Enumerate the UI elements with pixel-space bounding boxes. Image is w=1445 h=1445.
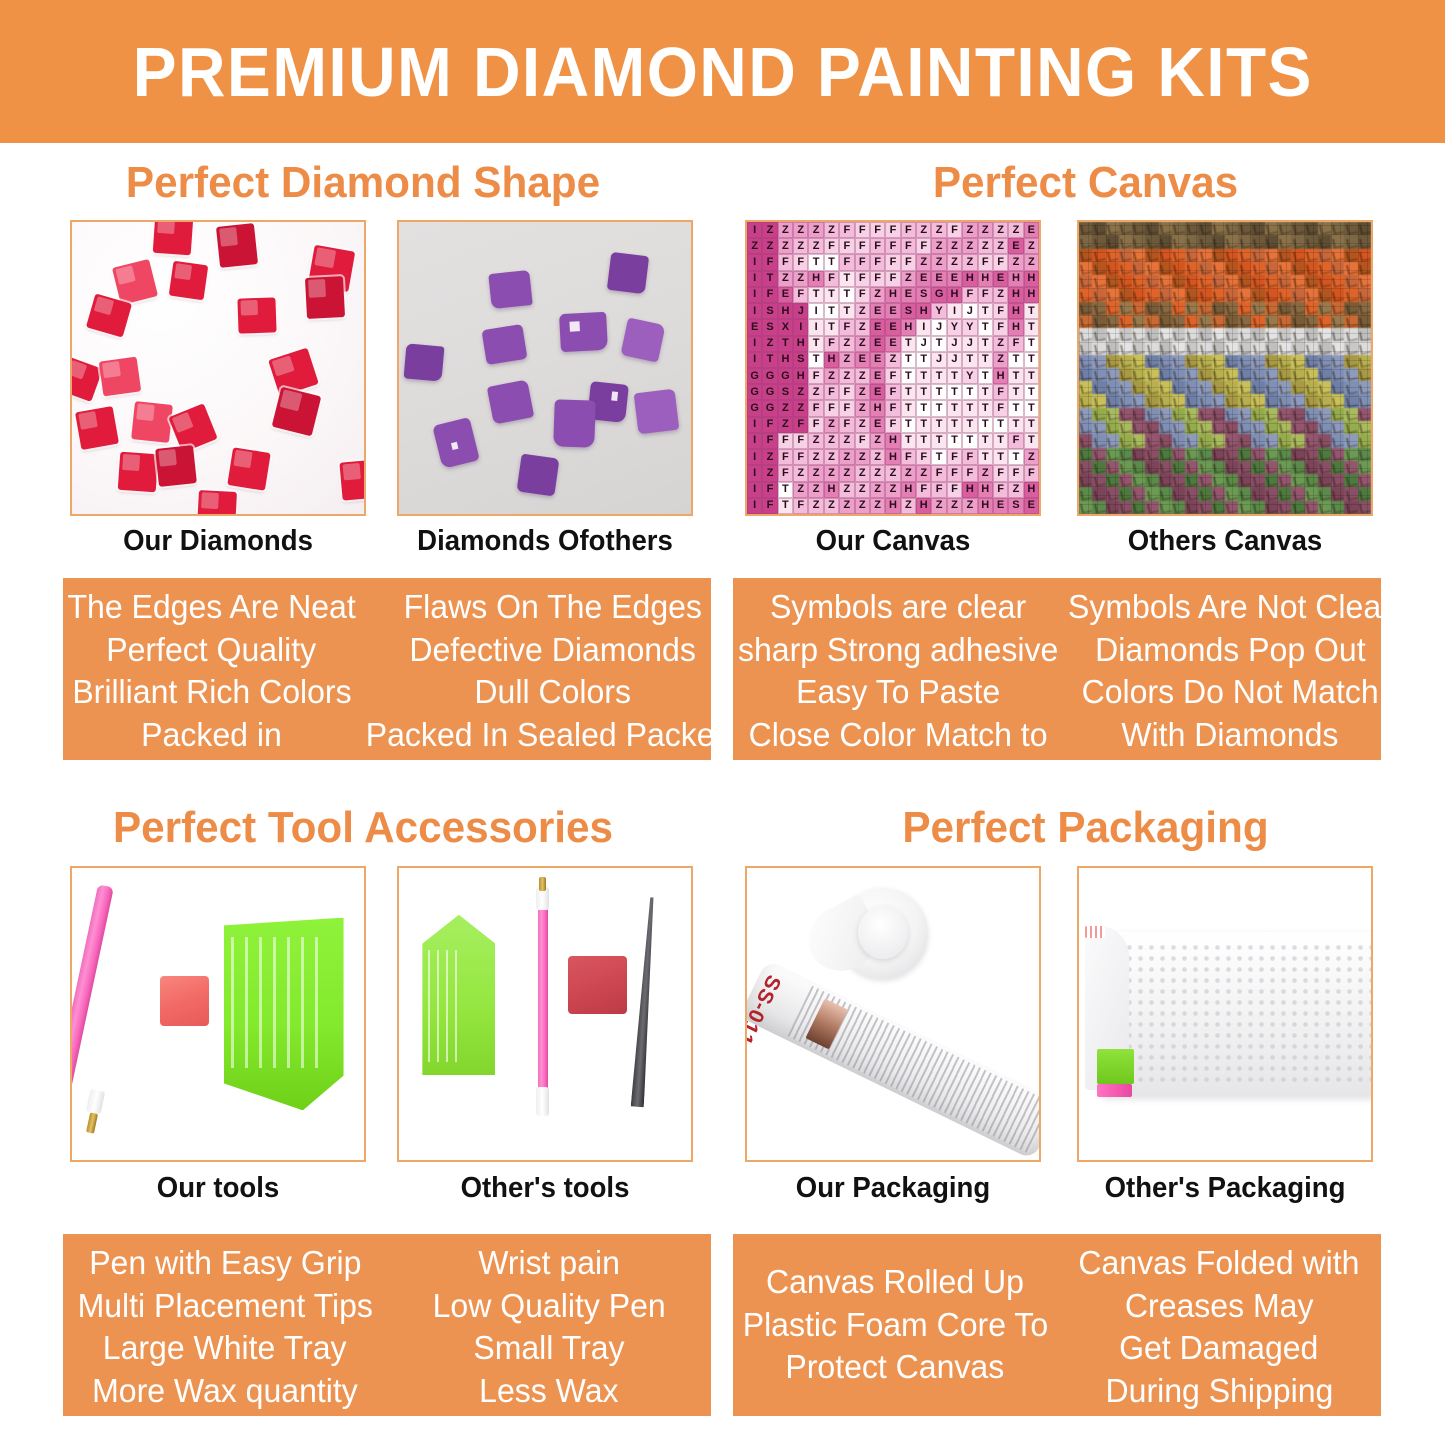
- infographic-page: PREMIUM DIAMOND PAINTING KITS Perfect Di…: [0, 0, 1445, 1445]
- section-heading-diamond-shape: Perfect Diamond Shape: [15, 158, 712, 208]
- others-pink-pen-icon: [538, 906, 549, 1099]
- canvas-symbol-cell: H: [978, 498, 993, 514]
- canvas-symbol-cell: I: [747, 352, 762, 368]
- canvas-symbol-cell: Z: [855, 498, 870, 514]
- canvas-symbol-cell: E: [993, 271, 1008, 287]
- canvas-symbol-cell: Z: [793, 384, 808, 400]
- textbox-col-others: Canvas Folded withCreases MayGet Damaged…: [1057, 1234, 1381, 1416]
- canvas-symbol-cell: T: [824, 254, 839, 270]
- canvas-symbol-cell: T: [978, 400, 993, 416]
- canvas-symbol-cell: F: [793, 254, 808, 270]
- textbox-line: Plastic Foam Core To: [742, 1304, 1047, 1347]
- canvas-symbol-cell: T: [1024, 433, 1039, 449]
- canvas-symbol-cell: J: [962, 303, 977, 319]
- canvas-symbol-cell: F: [947, 465, 962, 481]
- canvas-symbol-cell: F: [916, 449, 931, 465]
- canvas-symbol-cell: Z: [931, 498, 946, 514]
- canvas-symbol-cell: G: [747, 400, 762, 416]
- canvas-symbol-cell: F: [855, 238, 870, 254]
- our-packaging-photo: SS-011: [747, 868, 1039, 1160]
- canvas-symbol-cell: Z: [793, 238, 808, 254]
- canvas-symbol-cell: T: [947, 368, 962, 384]
- canvas-symbol-cell: E: [916, 271, 931, 287]
- canvas-symbol-cell: H: [916, 498, 931, 514]
- textbox-col-ours: Pen with Easy GripMulti Placement TipsLa…: [63, 1234, 387, 1416]
- canvas-symbol-cell: Z: [947, 254, 962, 270]
- canvas-symbol-cell: H: [885, 287, 900, 303]
- canvas-symbol-cell: F: [793, 498, 808, 514]
- section-heading-tool-accessories: Perfect Tool Accessories: [15, 803, 712, 853]
- canvas-symbol-cell: Z: [808, 482, 823, 498]
- textbox-line: The Edges Are Neat: [67, 586, 355, 629]
- canvas-symbol-cell: H: [824, 352, 839, 368]
- canvas-symbol-cell: E: [747, 319, 762, 335]
- canvas-symbol-cell: F: [855, 271, 870, 287]
- canvas-symbol-cell: Z: [778, 400, 793, 416]
- canvas-symbol-cell: Z: [824, 222, 839, 238]
- canvas-symbol-cell: I: [747, 287, 762, 303]
- canvas-symbol-cell: T: [978, 319, 993, 335]
- canvas-symbol-cell: E: [870, 384, 885, 400]
- canvas-symbol-cell: Z: [870, 433, 885, 449]
- canvas-symbol-cell: F: [1008, 465, 1023, 481]
- canvas-symbol-cell: Z: [870, 449, 885, 465]
- canvas-symbol-cell: I: [808, 319, 823, 335]
- canvas-symbol-cell: J: [947, 336, 962, 352]
- canvas-symbol-cell: F: [824, 271, 839, 287]
- canvas-symbol-cell: Z: [947, 498, 962, 514]
- canvas-symbol-cell: F: [762, 498, 777, 514]
- canvas-symbol-cell: E: [901, 287, 916, 303]
- canvas-symbol-cell: Z: [931, 222, 946, 238]
- canvas-symbol-cell: Z: [993, 222, 1008, 238]
- canvas-symbol-cell: T: [931, 449, 946, 465]
- canvas-symbol-cell: T: [931, 384, 946, 400]
- canvas-symbol-cell: F: [839, 222, 854, 238]
- canvas-symbol-cell: Z: [885, 465, 900, 481]
- canvas-symbol-cell: Z: [1024, 254, 1039, 270]
- textbox-line: Diamonds: [826, 756, 970, 799]
- canvas-symbol-cell: F: [855, 433, 870, 449]
- textbox-line: Symbols are clear: [770, 586, 1026, 629]
- canvas-symbol-cell: H: [885, 449, 900, 465]
- canvas-symbol-cell: Z: [855, 482, 870, 498]
- others-diamonds-photo: [399, 222, 691, 514]
- canvas-symbol-cell: T: [1008, 417, 1023, 433]
- canvas-symbol-cell: Z: [855, 449, 870, 465]
- canvas-symbol-cell: F: [855, 287, 870, 303]
- canvas-symbol-cell: T: [931, 433, 946, 449]
- canvas-symbol-cell: E: [885, 319, 900, 335]
- caption-others-packaging: Other's Packaging: [1084, 1172, 1365, 1205]
- canvas-symbol-cell: E: [1024, 222, 1039, 238]
- canvas-symbol-cell: H: [808, 271, 823, 287]
- canvas-symbol-cell: F: [885, 238, 900, 254]
- canvas-symbol-cell: F: [824, 336, 839, 352]
- textbox-line: Symbols Are Not Clear: [1068, 586, 1392, 629]
- canvas-symbol-cell: Z: [778, 417, 793, 433]
- canvas-symbol-cell: G: [747, 368, 762, 384]
- canvas-symbol-cell: Z: [978, 238, 993, 254]
- textbox-line: Creases May: [1125, 1285, 1314, 1328]
- textbox-diamond-shape: The Edges Are NeatPerfect QualityBrillia…: [63, 578, 711, 760]
- canvas-symbol-cell: F: [993, 303, 1008, 319]
- canvas-symbol-cell: T: [1024, 400, 1039, 416]
- canvas-symbol-cell: F: [885, 368, 900, 384]
- textbox-line: Flaws On The Edges: [404, 586, 702, 629]
- caption-diamonds-ofothers: Diamonds Ofothers: [404, 525, 685, 558]
- canvas-symbol-cell: F: [778, 449, 793, 465]
- canvas-symbol-cell: F: [962, 287, 977, 303]
- canvas-symbol-cell: T: [978, 303, 993, 319]
- canvas-symbol-cell: H: [1008, 319, 1023, 335]
- canvas-symbol-cell: T: [808, 287, 823, 303]
- canvas-symbol-cell: F: [901, 254, 916, 270]
- canvas-symbol-cell: F: [793, 417, 808, 433]
- canvas-symbol-cell: T: [839, 271, 854, 287]
- canvas-symbol-cell: F: [839, 400, 854, 416]
- canvas-symbol-grid: IZZZZZFFFFFZZFZZZZEZZZZZFFFFFFFZZZZZEZIF…: [747, 222, 1039, 514]
- canvas-symbol-cell: H: [978, 482, 993, 498]
- textbox-line: Defective Diamonds: [410, 629, 696, 672]
- canvas-symbol-cell: J: [793, 303, 808, 319]
- textbox-line: More Wax quantity: [92, 1370, 358, 1413]
- canvas-symbol-cell: T: [931, 336, 946, 352]
- canvas-symbol-cell: Z: [793, 465, 808, 481]
- canvas-symbol-cell: S: [901, 303, 916, 319]
- canvas-symbol-cell: T: [962, 417, 977, 433]
- canvas-symbol-cell: E: [931, 271, 946, 287]
- canvas-symbol-cell: Z: [855, 368, 870, 384]
- canvas-symbol-cell: Z: [962, 238, 977, 254]
- canvas-symbol-cell: F: [839, 417, 854, 433]
- section-heading-canvas: Perfect Canvas: [740, 158, 1430, 208]
- canvas-symbol-cell: Y: [962, 368, 977, 384]
- textbox-line: Multi Placement Tips: [77, 1285, 372, 1328]
- canvas-symbol-cell: T: [1008, 368, 1023, 384]
- canvas-symbol-cell: Z: [855, 336, 870, 352]
- textbox-col-others: Flaws On The EdgesDefective DiamondsDull…: [360, 578, 745, 760]
- caption-others-tools: Other's tools: [404, 1172, 685, 1205]
- canvas-symbol-cell: Z: [778, 271, 793, 287]
- canvas-symbol-cell: Z: [762, 465, 777, 481]
- canvas-symbol-cell: T: [808, 254, 823, 270]
- canvas-symbol-cell: T: [947, 433, 962, 449]
- canvas-symbol-cell: H: [1024, 482, 1039, 498]
- textbox-col-ours: Symbols are clearsharp Strong adhesiveEa…: [733, 578, 1063, 760]
- canvas-symbol-cell: H: [962, 482, 977, 498]
- canvas-symbol-cell: Z: [808, 498, 823, 514]
- canvas-symbol-cell: Z: [839, 449, 854, 465]
- canvas-symbol-cell: E: [870, 368, 885, 384]
- canvas-symbol-cell: T: [993, 449, 1008, 465]
- canvas-symbol-cell: Z: [978, 465, 993, 481]
- canvas-symbol-cell: I: [747, 433, 762, 449]
- textbox-line: Canvas Rolled Up: [766, 1261, 1024, 1304]
- canvas-symbol-cell: Z: [855, 400, 870, 416]
- canvas-symbol-cell: Z: [978, 222, 993, 238]
- canvas-symbol-cell: Y: [931, 303, 946, 319]
- canvas-symbol-cell: F: [778, 254, 793, 270]
- tweezers-icon: [631, 897, 659, 1108]
- canvas-symbol-cell: Z: [762, 449, 777, 465]
- canvas-symbol-cell: Z: [1024, 449, 1039, 465]
- canvas-symbol-cell: T: [916, 417, 931, 433]
- caption-our-canvas: Our Canvas: [752, 525, 1033, 558]
- canvas-symbol-cell: Z: [762, 336, 777, 352]
- canvas-symbol-cell: Z: [916, 465, 931, 481]
- canvas-symbol-cell: E: [778, 287, 793, 303]
- canvas-symbol-cell: H: [1024, 287, 1039, 303]
- rolled-tube-icon: SS-011: [745, 959, 1041, 1160]
- canvas-symbol-cell: Z: [808, 222, 823, 238]
- canvas-symbol-cell: H: [824, 482, 839, 498]
- textbox-col-ours: The Edges Are NeatPerfect QualityBrillia…: [63, 578, 360, 760]
- canvas-symbol-cell: T: [824, 319, 839, 335]
- canvas-symbol-cell: F: [947, 449, 962, 465]
- canvas-symbol-cell: F: [885, 417, 900, 433]
- canvas-symbol-cell: E: [885, 336, 900, 352]
- canvas-symbol-cell: T: [978, 433, 993, 449]
- bubble-mailer-icon: [1102, 932, 1373, 1096]
- canvas-symbol-cell: G: [931, 287, 946, 303]
- canvas-symbol-cell: T: [762, 352, 777, 368]
- canvas-symbol-cell: Z: [839, 465, 854, 481]
- canvas-symbol-cell: F: [885, 271, 900, 287]
- canvas-symbol-cell: T: [1008, 449, 1023, 465]
- canvas-symbol-cell: Z: [824, 449, 839, 465]
- canvas-symbol-cell: S: [778, 384, 793, 400]
- canvas-symbol-cell: H: [870, 400, 885, 416]
- canvas-symbol-cell: Z: [993, 287, 1008, 303]
- textbox-line: Get Damaged: [1119, 1327, 1318, 1370]
- canvas-symbol-cell: T: [901, 417, 916, 433]
- wax-square-icon: [160, 976, 210, 1026]
- canvas-symbol-cell: Z: [916, 254, 931, 270]
- canvas-symbol-cell: T: [978, 449, 993, 465]
- canvas-symbol-cell: F: [993, 384, 1008, 400]
- canvas-symbol-cell: J: [916, 336, 931, 352]
- canvas-symbol-cell: H: [793, 368, 808, 384]
- canvas-symbol-cell: F: [762, 482, 777, 498]
- canvas-symbol-cell: F: [993, 482, 1008, 498]
- canvas-symbol-cell: I: [747, 498, 762, 514]
- canvas-symbol-cell: E: [947, 271, 962, 287]
- canvas-symbol-cell: Z: [855, 417, 870, 433]
- others-canvas-photo: [1079, 222, 1371, 514]
- canvas-symbol-cell: F: [824, 384, 839, 400]
- canvas-symbol-cell: Z: [993, 352, 1008, 368]
- canvas-symbol-cell: T: [1024, 384, 1039, 400]
- canvas-symbol-cell: J: [962, 336, 977, 352]
- our-canvas-photo: IZZZZZFFFFFZZFZZZZEZZZZZFFFFFFFZZZZZEZIF…: [747, 222, 1039, 514]
- canvas-symbol-cell: F: [931, 482, 946, 498]
- canvas-symbol-cell: Z: [1008, 222, 1023, 238]
- textbox-line: Small Tray: [473, 1327, 624, 1370]
- canvas-symbol-cell: H: [901, 319, 916, 335]
- canvas-symbol-cell: T: [824, 287, 839, 303]
- canvas-symbol-cell: Z: [931, 238, 946, 254]
- textbox-tool-accessories: Pen with Easy GripMulti Placement TipsLa…: [63, 1234, 711, 1416]
- canvas-symbol-cell: S: [916, 287, 931, 303]
- textbox-line: Easy To Paste: [796, 671, 1000, 714]
- canvas-symbol-cell: T: [993, 433, 1008, 449]
- canvas-symbol-cell: Z: [870, 498, 885, 514]
- canvas-symbol-cell: Z: [824, 368, 839, 384]
- canvas-symbol-cell: Z: [778, 222, 793, 238]
- canvas-symbol-cell: F: [824, 238, 839, 254]
- canvas-symbol-cell: T: [901, 433, 916, 449]
- canvas-symbol-cell: Z: [824, 498, 839, 514]
- canvas-symbol-cell: E: [885, 303, 900, 319]
- canvas-symbol-cell: H: [993, 368, 1008, 384]
- others-packaging-photo: [1079, 868, 1371, 1160]
- canvas-symbol-cell: Z: [870, 482, 885, 498]
- canvas-symbol-cell: F: [962, 449, 977, 465]
- panel-diamonds-ofothers: [397, 220, 693, 516]
- canvas-symbol-cell: H: [962, 271, 977, 287]
- canvas-symbol-cell: T: [762, 271, 777, 287]
- small-green-tray-icon: [422, 915, 495, 1076]
- canvas-symbol-cell: T: [947, 400, 962, 416]
- canvas-symbol-cell: J: [947, 352, 962, 368]
- canvas-symbol-cell: Z: [855, 319, 870, 335]
- canvas-symbol-cell: F: [839, 384, 854, 400]
- canvas-symbol-cell: T: [947, 417, 962, 433]
- canvas-symbol-cell: T: [916, 352, 931, 368]
- canvas-symbol-cell: H: [978, 271, 993, 287]
- canvas-symbol-cell: E: [870, 303, 885, 319]
- caption-our-diamonds: Our Diamonds: [77, 525, 358, 558]
- canvas-symbol-cell: F: [808, 368, 823, 384]
- canvas-symbol-cell: T: [901, 384, 916, 400]
- canvas-symbol-cell: Z: [824, 465, 839, 481]
- panel-our-packaging: SS-011: [745, 866, 1041, 1162]
- canvas-symbol-cell: Z: [993, 336, 1008, 352]
- canvas-symbol-cell: X: [778, 319, 793, 335]
- canvas-symbol-cell: Z: [839, 368, 854, 384]
- canvas-symbol-cell: F: [993, 400, 1008, 416]
- canvas-symbol-cell: G: [762, 368, 777, 384]
- canvas-symbol-cell: Z: [824, 417, 839, 433]
- canvas-symbol-cell: T: [1008, 384, 1023, 400]
- canvas-symbol-cell: E: [870, 319, 885, 335]
- canvas-symbol-cell: F: [762, 433, 777, 449]
- canvas-symbol-cell: F: [901, 449, 916, 465]
- canvas-symbol-cell: H: [1008, 271, 1023, 287]
- canvas-symbol-cell: Z: [901, 271, 916, 287]
- canvas-symbol-cell: G: [747, 384, 762, 400]
- canvas-symbol-cell: T: [1024, 352, 1039, 368]
- canvas-symbol-cell: I: [747, 336, 762, 352]
- canvas-symbol-cell: T: [931, 368, 946, 384]
- canvas-symbol-cell: T: [1024, 417, 1039, 433]
- canvas-symbol-cell: H: [1024, 271, 1039, 287]
- canvas-symbol-cell: T: [901, 400, 916, 416]
- textbox-line: Dull Colors: [475, 671, 632, 714]
- canvas-symbol-cell: F: [916, 238, 931, 254]
- green-tray-icon: [224, 918, 344, 1111]
- canvas-symbol-cell: Z: [855, 465, 870, 481]
- canvas-symbol-cell: T: [839, 287, 854, 303]
- canvas-symbol-cell: F: [839, 238, 854, 254]
- canvas-symbol-cell: F: [870, 254, 885, 270]
- canvas-symbol-cell: Z: [808, 384, 823, 400]
- canvas-symbol-cell: T: [1008, 400, 1023, 416]
- canvas-symbol-cell: T: [978, 384, 993, 400]
- canvas-symbol-cell: F: [885, 384, 900, 400]
- canvas-symbol-cell: I: [747, 449, 762, 465]
- canvas-symbol-cell: Z: [824, 433, 839, 449]
- canvas-symbol-cell: T: [808, 352, 823, 368]
- canvas-symbol-cell: F: [885, 222, 900, 238]
- canvas-symbol-cell: H: [885, 433, 900, 449]
- textbox-line: Pen with Easy Grip: [89, 1242, 361, 1285]
- canvas-symbol-cell: T: [916, 368, 931, 384]
- textbox-line: Less Wax: [479, 1370, 618, 1413]
- canvas-symbol-cell: Z: [870, 465, 885, 481]
- canvas-symbol-cell: Z: [947, 238, 962, 254]
- canvas-symbol-cell: Z: [962, 254, 977, 270]
- our-diamonds-photo: [72, 222, 364, 514]
- panel-others-packaging: [1077, 866, 1373, 1162]
- canvas-symbol-cell: Z: [901, 465, 916, 481]
- canvas-symbol-cell: T: [916, 433, 931, 449]
- canvas-symbol-cell: F: [1024, 465, 1039, 481]
- canvas-symbol-cell: F: [993, 254, 1008, 270]
- canvas-symbol-cell: I: [747, 222, 762, 238]
- canvas-symbol-cell: T: [901, 336, 916, 352]
- canvas-symbol-cell: F: [839, 319, 854, 335]
- canvas-symbol-cell: F: [793, 433, 808, 449]
- canvas-symbol-cell: T: [978, 368, 993, 384]
- canvas-symbol-cell: S: [762, 319, 777, 335]
- canvas-symbol-cell: Z: [870, 287, 885, 303]
- canvas-symbol-cell: E: [993, 498, 1008, 514]
- canvas-symbol-cell: J: [931, 319, 946, 335]
- canvas-symbol-cell: T: [808, 336, 823, 352]
- canvas-symbol-cell: Z: [839, 352, 854, 368]
- textbox-line: During Shipping: [1105, 1370, 1333, 1413]
- canvas-symbol-cell: I: [747, 417, 762, 433]
- canvas-symbol-cell: E: [855, 352, 870, 368]
- canvas-symbol-cell: Z: [916, 222, 931, 238]
- canvas-symbol-cell: F: [901, 238, 916, 254]
- caption-our-tools: Our tools: [77, 1172, 358, 1205]
- canvas-symbol-cell: Y: [947, 319, 962, 335]
- section-heading-packaging: Perfect Packaging: [740, 803, 1430, 853]
- canvas-symbol-cell: E: [870, 336, 885, 352]
- textbox-line: Packed in: [141, 714, 282, 757]
- canvas-symbol-cell: F: [778, 433, 793, 449]
- canvas-symbol-cell: H: [916, 303, 931, 319]
- canvas-symbol-cell: F: [885, 254, 900, 270]
- canvas-symbol-cell: F: [947, 482, 962, 498]
- canvas-symbol-cell: F: [885, 400, 900, 416]
- textbox-col-others: Wrist painLow Quality PenSmall TrayLess …: [387, 1234, 711, 1416]
- textbox-line: Canvas Folded with: [1078, 1242, 1359, 1285]
- canvas-symbol-cell: E: [1024, 498, 1039, 514]
- canvas-symbol-cell: Z: [808, 465, 823, 481]
- canvas-symbol-cell: F: [870, 222, 885, 238]
- canvas-symbol-cell: F: [1008, 336, 1023, 352]
- canvas-symbol-cell: Z: [855, 384, 870, 400]
- canvas-symbol-cell: F: [978, 287, 993, 303]
- canvas-symbol-cell: T: [916, 400, 931, 416]
- textbox-line: With Diamonds: [1122, 714, 1339, 757]
- canvas-symbol-cell: Z: [808, 433, 823, 449]
- page-title: PREMIUM DIAMOND PAINTING KITS: [132, 37, 1312, 107]
